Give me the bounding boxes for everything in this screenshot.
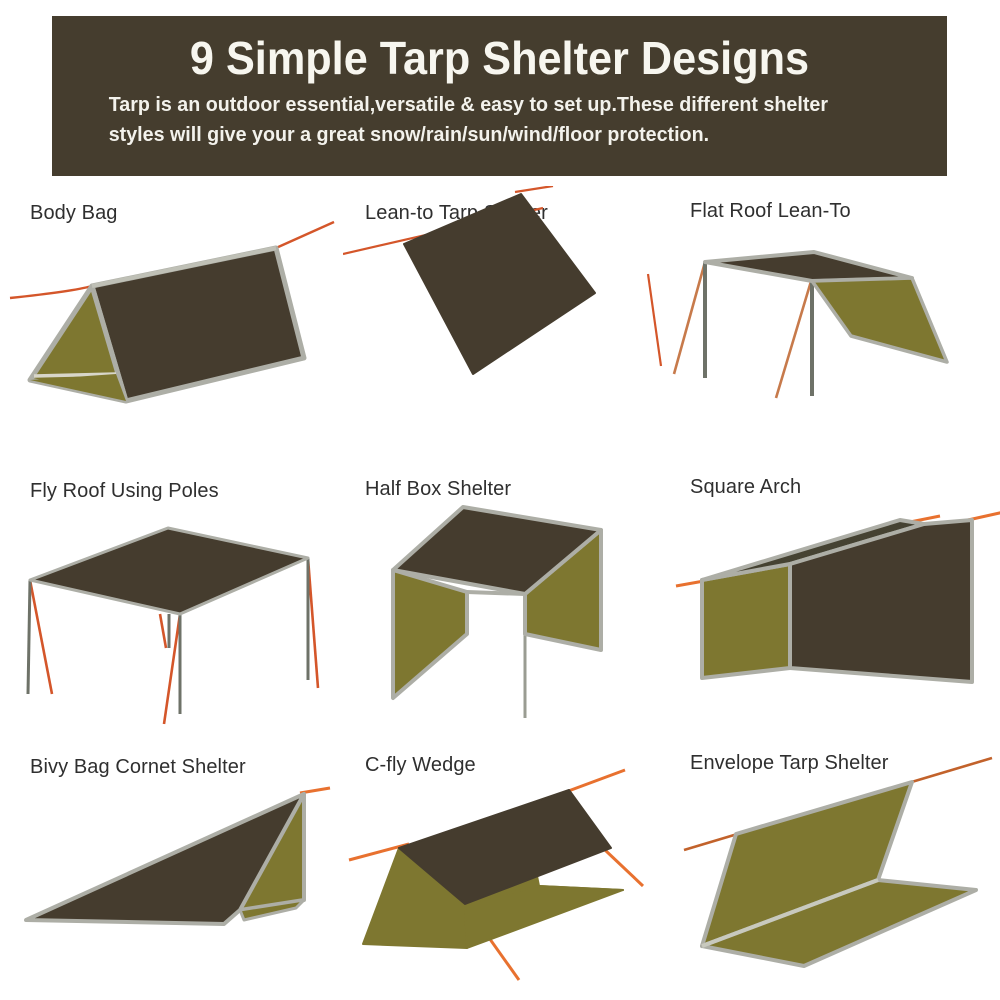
header-banner: 9 Simple Tarp Shelter Designs Tarp is an… xyxy=(52,16,947,176)
guy-line-icon xyxy=(674,262,705,374)
subtitle-line-1: Tarp is an outdoor essential,versatile &… xyxy=(109,90,876,120)
guy-line-icon xyxy=(776,278,812,398)
guy-line-icon xyxy=(605,850,643,886)
subtitle-line-2: styles will give your a great snow/rain/… xyxy=(109,120,876,150)
pole-icon xyxy=(28,580,30,694)
tarp-face-olive xyxy=(702,564,790,678)
design-card-flat-roof-lean-to[interactable]: Flat Roof Lean-To xyxy=(672,186,1000,457)
design-figure-fly-roof-using-poles xyxy=(8,462,341,733)
guy-line-icon xyxy=(160,614,166,648)
guy-line-icon xyxy=(164,614,180,724)
design-card-square-arch[interactable]: Square Arch xyxy=(672,462,1000,733)
design-card-half-box-shelter[interactable]: Half Box Shelter xyxy=(343,462,676,733)
tarp-wall-left-olive xyxy=(393,570,467,698)
design-figure-half-box-shelter xyxy=(343,462,676,733)
design-card-lean-to-tarp-shelter[interactable]: Lean-to Tarp Shelter xyxy=(343,186,676,457)
design-figure-bivy-bag-cornet-shelter xyxy=(8,738,341,1000)
guy-line-icon xyxy=(648,274,661,366)
tarp-panel-dark xyxy=(92,248,304,401)
tarp-panel-dark xyxy=(404,194,595,374)
design-card-bivy-bag-cornet-shelter[interactable]: Bivy Bag Cornet Shelter xyxy=(8,738,341,1000)
designs-grid: Body Bag xyxy=(0,186,1000,1000)
design-figure-square-arch xyxy=(672,462,1000,733)
seam-line xyxy=(467,592,525,594)
design-card-body-bag[interactable]: Body Bag xyxy=(8,186,341,457)
design-figure-lean-to-tarp-shelter xyxy=(343,186,676,457)
tarp-roof-dark xyxy=(30,528,308,614)
design-figure-flat-roof-lean-to xyxy=(672,186,1000,457)
design-figure-envelope-tarp-shelter xyxy=(672,738,1000,1000)
page-subtitle: Tarp is an outdoor essential,versatile &… xyxy=(78,90,887,150)
design-card-envelope-tarp-shelter[interactable]: Envelope Tarp Shelter xyxy=(672,738,1000,1000)
design-card-fly-roof-using-poles[interactable]: Fly Roof Using Poles xyxy=(8,462,341,733)
guy-line-icon xyxy=(10,286,92,298)
design-figure-c-fly-wedge xyxy=(343,738,676,1000)
guy-line-icon xyxy=(276,222,334,248)
infographic-page: 9 Simple Tarp Shelter Designs Tarp is an… xyxy=(0,0,1000,1000)
design-figure-body-bag xyxy=(8,186,341,457)
guy-line-icon xyxy=(563,770,625,793)
page-title: 9 Simple Tarp Shelter Designs xyxy=(103,28,895,88)
tarp-roof-dark xyxy=(705,252,912,281)
design-card-c-fly-wedge[interactable]: C-fly Wedge xyxy=(343,738,676,1000)
guy-line-icon xyxy=(515,186,553,192)
tarp-wall-olive xyxy=(812,278,947,362)
guy-line-icon xyxy=(30,580,52,694)
